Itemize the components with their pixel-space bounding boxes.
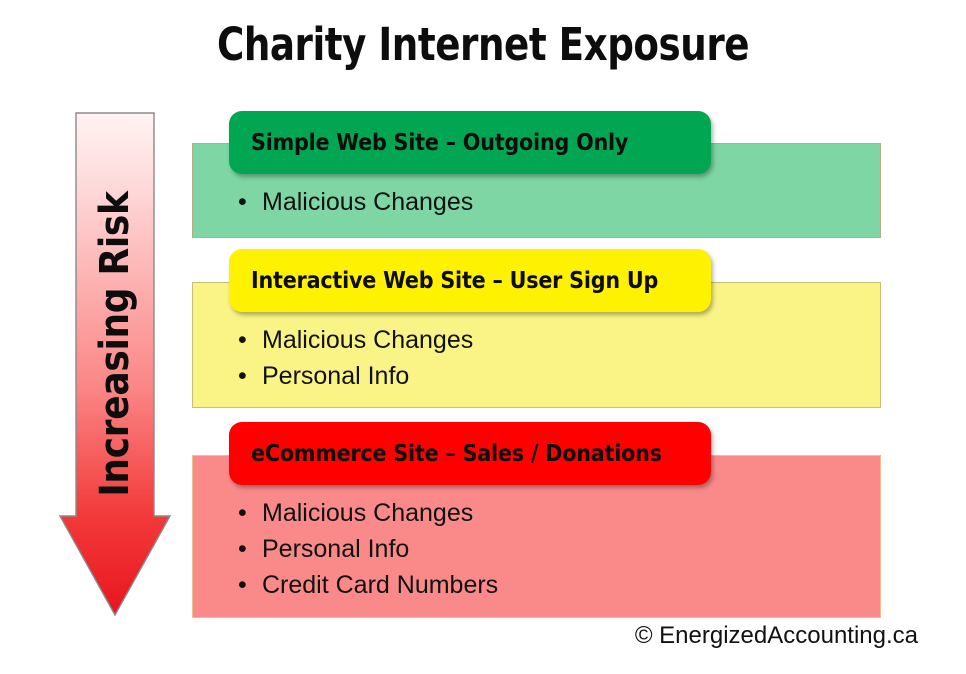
list-item-label: Malicious Changes	[262, 495, 473, 531]
bullet-icon: •	[238, 495, 262, 531]
tier-header-ecommerce-site[interactable]: eCommerce Site – Sales / Donations	[229, 422, 711, 485]
list-item-label: Credit Card Numbers	[262, 567, 498, 603]
tier-items-simple-web-site: • Malicious Changes	[238, 184, 473, 220]
tier-header-label-simple-web-site: Simple Web Site – Outgoing Only	[229, 130, 628, 156]
list-item-label: Personal Info	[262, 358, 409, 394]
tier-header-label-ecommerce-site: eCommerce Site – Sales / Donations	[229, 441, 662, 467]
list-item-label: Malicious Changes	[262, 184, 473, 220]
diagram-canvas: Charity Internet Exposure Increasing Ris…	[0, 0, 966, 674]
tier-items-ecommerce-site: • Malicious Changes • Personal Info • Cr…	[238, 495, 498, 603]
tier-header-label-interactive-web-site: Interactive Web Site – User Sign Up	[229, 268, 658, 294]
list-item-label: Personal Info	[262, 531, 409, 567]
bullet-icon: •	[238, 322, 262, 358]
list-item: • Credit Card Numbers	[238, 567, 498, 603]
increasing-risk-label: Increasing Risk	[92, 191, 138, 496]
bullet-icon: •	[238, 184, 262, 220]
copyright-notice: © EnergizedAccounting.ca	[635, 622, 918, 650]
tier-header-simple-web-site[interactable]: Simple Web Site – Outgoing Only	[229, 111, 711, 174]
page-title: Charity Internet Exposure	[39, 18, 928, 71]
list-item: • Malicious Changes	[238, 495, 498, 531]
increasing-risk-arrow: Increasing Risk	[58, 110, 172, 618]
bullet-icon: •	[238, 358, 262, 394]
list-item: • Malicious Changes	[238, 184, 473, 220]
bullet-icon: •	[238, 531, 262, 567]
tier-header-interactive-web-site[interactable]: Interactive Web Site – User Sign Up	[229, 249, 711, 312]
list-item: • Personal Info	[238, 358, 473, 394]
bullet-icon: •	[238, 567, 262, 603]
list-item: • Malicious Changes	[238, 322, 473, 358]
tier-items-interactive-web-site: • Malicious Changes • Personal Info	[238, 322, 473, 394]
list-item: • Personal Info	[238, 531, 498, 567]
list-item-label: Malicious Changes	[262, 322, 473, 358]
